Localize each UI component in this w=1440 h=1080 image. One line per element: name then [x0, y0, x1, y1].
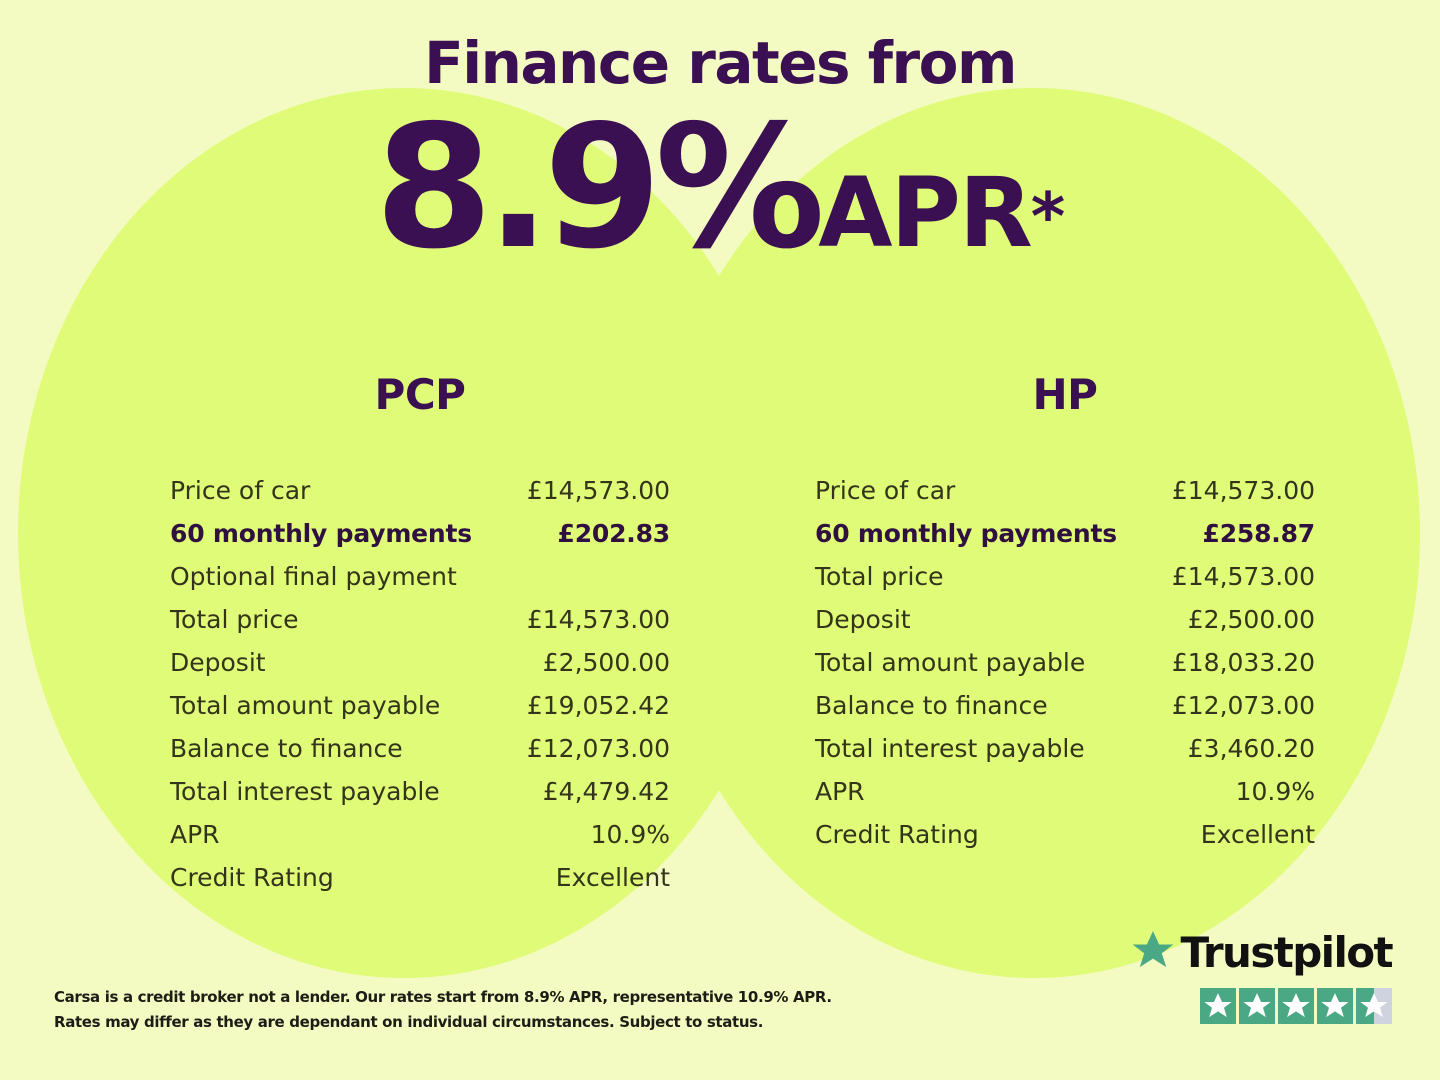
row-label: Balance to finance — [815, 684, 1048, 727]
trustpilot-rating: Trustpilot — [1130, 928, 1392, 1024]
table-row: Deposit£2,500.00 — [815, 598, 1315, 641]
disclaimer-line-2: Rates may differ as they are dependant o… — [54, 1010, 814, 1035]
row-value: 10.9% — [591, 813, 670, 856]
table-row: Balance to finance£12,073.00 — [170, 727, 670, 770]
trustpilot-star-3-icon — [1278, 988, 1314, 1024]
table-row: Balance to finance£12,073.00 — [815, 684, 1315, 727]
trustpilot-star-1-icon — [1200, 988, 1236, 1024]
column-title-hp: HP — [815, 370, 1315, 419]
table-row: Optional final payment — [170, 555, 670, 598]
row-label: Price of car — [170, 469, 310, 512]
header: Finance rates from 8.9%APR* — [0, 34, 1440, 270]
row-label: Price of car — [815, 469, 955, 512]
row-label: Deposit — [170, 641, 266, 684]
apr-label: APR — [818, 157, 1031, 269]
table-row: APR10.9% — [170, 813, 670, 856]
row-label: Total interest payable — [170, 770, 440, 813]
row-value: £14,573.00 — [527, 469, 670, 512]
table-row: Total amount payable£19,052.42 — [170, 684, 670, 727]
apr-headline: 8.9%APR* — [0, 108, 1440, 270]
table-row: Credit RatingExcellent — [170, 856, 670, 899]
apr-number: 8.9% — [375, 89, 818, 287]
row-label: Total amount payable — [815, 641, 1085, 684]
row-value: £12,073.00 — [527, 727, 670, 770]
row-value: £258.87 — [1203, 512, 1315, 555]
row-value: £14,573.00 — [1172, 469, 1315, 512]
finance-column-pcp: PCP Price of car£14,573.0060 monthly pay… — [170, 370, 670, 899]
page-title: Finance rates from — [0, 34, 1440, 92]
row-label: Balance to finance — [170, 727, 403, 770]
table-row: Total price£14,573.00 — [170, 598, 670, 641]
row-value: Excellent — [556, 856, 670, 899]
row-value: £18,033.20 — [1172, 641, 1315, 684]
disclaimer: Carsa is a credit broker not a lender. O… — [54, 985, 814, 1035]
finance-table-hp: Price of car£14,573.0060 monthly payment… — [815, 469, 1315, 856]
row-value: £2,500.00 — [543, 641, 670, 684]
table-row: Credit RatingExcellent — [815, 813, 1315, 856]
finance-column-hp: HP Price of car£14,573.0060 monthly paym… — [815, 370, 1315, 856]
row-label: Credit Rating — [815, 813, 979, 856]
disclaimer-line-1: Carsa is a credit broker not a lender. O… — [54, 985, 814, 1010]
table-row: Total amount payable£18,033.20 — [815, 641, 1315, 684]
row-label: Credit Rating — [170, 856, 334, 899]
table-row: Price of car£14,573.00 — [170, 469, 670, 512]
table-row: Total interest payable£4,479.42 — [170, 770, 670, 813]
table-row: Price of car£14,573.00 — [815, 469, 1315, 512]
row-value: £4,479.42 — [543, 770, 670, 813]
trustpilot-wordmark-text: Trustpilot — [1180, 932, 1392, 974]
row-label: 60 monthly payments — [815, 512, 1117, 555]
row-label: Total price — [170, 598, 299, 641]
table-row: Total interest payable£3,460.20 — [815, 727, 1315, 770]
row-value: £14,573.00 — [1172, 555, 1315, 598]
trustpilot-star-5-icon — [1356, 988, 1392, 1024]
row-label: Total interest payable — [815, 727, 1085, 770]
table-row: 60 monthly payments£202.83 — [170, 512, 670, 555]
column-title-pcp: PCP — [170, 370, 670, 419]
table-row: Total price£14,573.00 — [815, 555, 1315, 598]
apr-asterisk: * — [1031, 179, 1066, 256]
row-label: Optional final payment — [170, 555, 457, 598]
row-value: £2,500.00 — [1188, 598, 1315, 641]
row-value: £202.83 — [558, 512, 670, 555]
table-row: Deposit£2,500.00 — [170, 641, 670, 684]
row-label: 60 monthly payments — [170, 512, 472, 555]
row-value: £14,573.00 — [527, 598, 670, 641]
trustpilot-star-2-icon — [1239, 988, 1275, 1024]
trustpilot-star-4-icon — [1317, 988, 1353, 1024]
table-row: APR10.9% — [815, 770, 1315, 813]
row-label: APR — [815, 770, 865, 813]
trustpilot-logo: Trustpilot — [1130, 928, 1392, 978]
row-value: £3,460.20 — [1188, 727, 1315, 770]
table-row: 60 monthly payments£258.87 — [815, 512, 1315, 555]
trustpilot-star-icon — [1130, 928, 1176, 978]
row-value: £19,052.42 — [527, 684, 670, 727]
row-label: Total price — [815, 555, 944, 598]
row-value: Excellent — [1201, 813, 1315, 856]
row-label: APR — [170, 813, 220, 856]
finance-rates-graphic: Finance rates from 8.9%APR* PCP Price of… — [0, 0, 1440, 1080]
row-label: Total amount payable — [170, 684, 440, 727]
row-value: £12,073.00 — [1172, 684, 1315, 727]
finance-table-pcp: Price of car£14,573.0060 monthly payment… — [170, 469, 670, 899]
row-value: 10.9% — [1236, 770, 1315, 813]
trustpilot-star-row — [1130, 988, 1392, 1024]
row-label: Deposit — [815, 598, 911, 641]
